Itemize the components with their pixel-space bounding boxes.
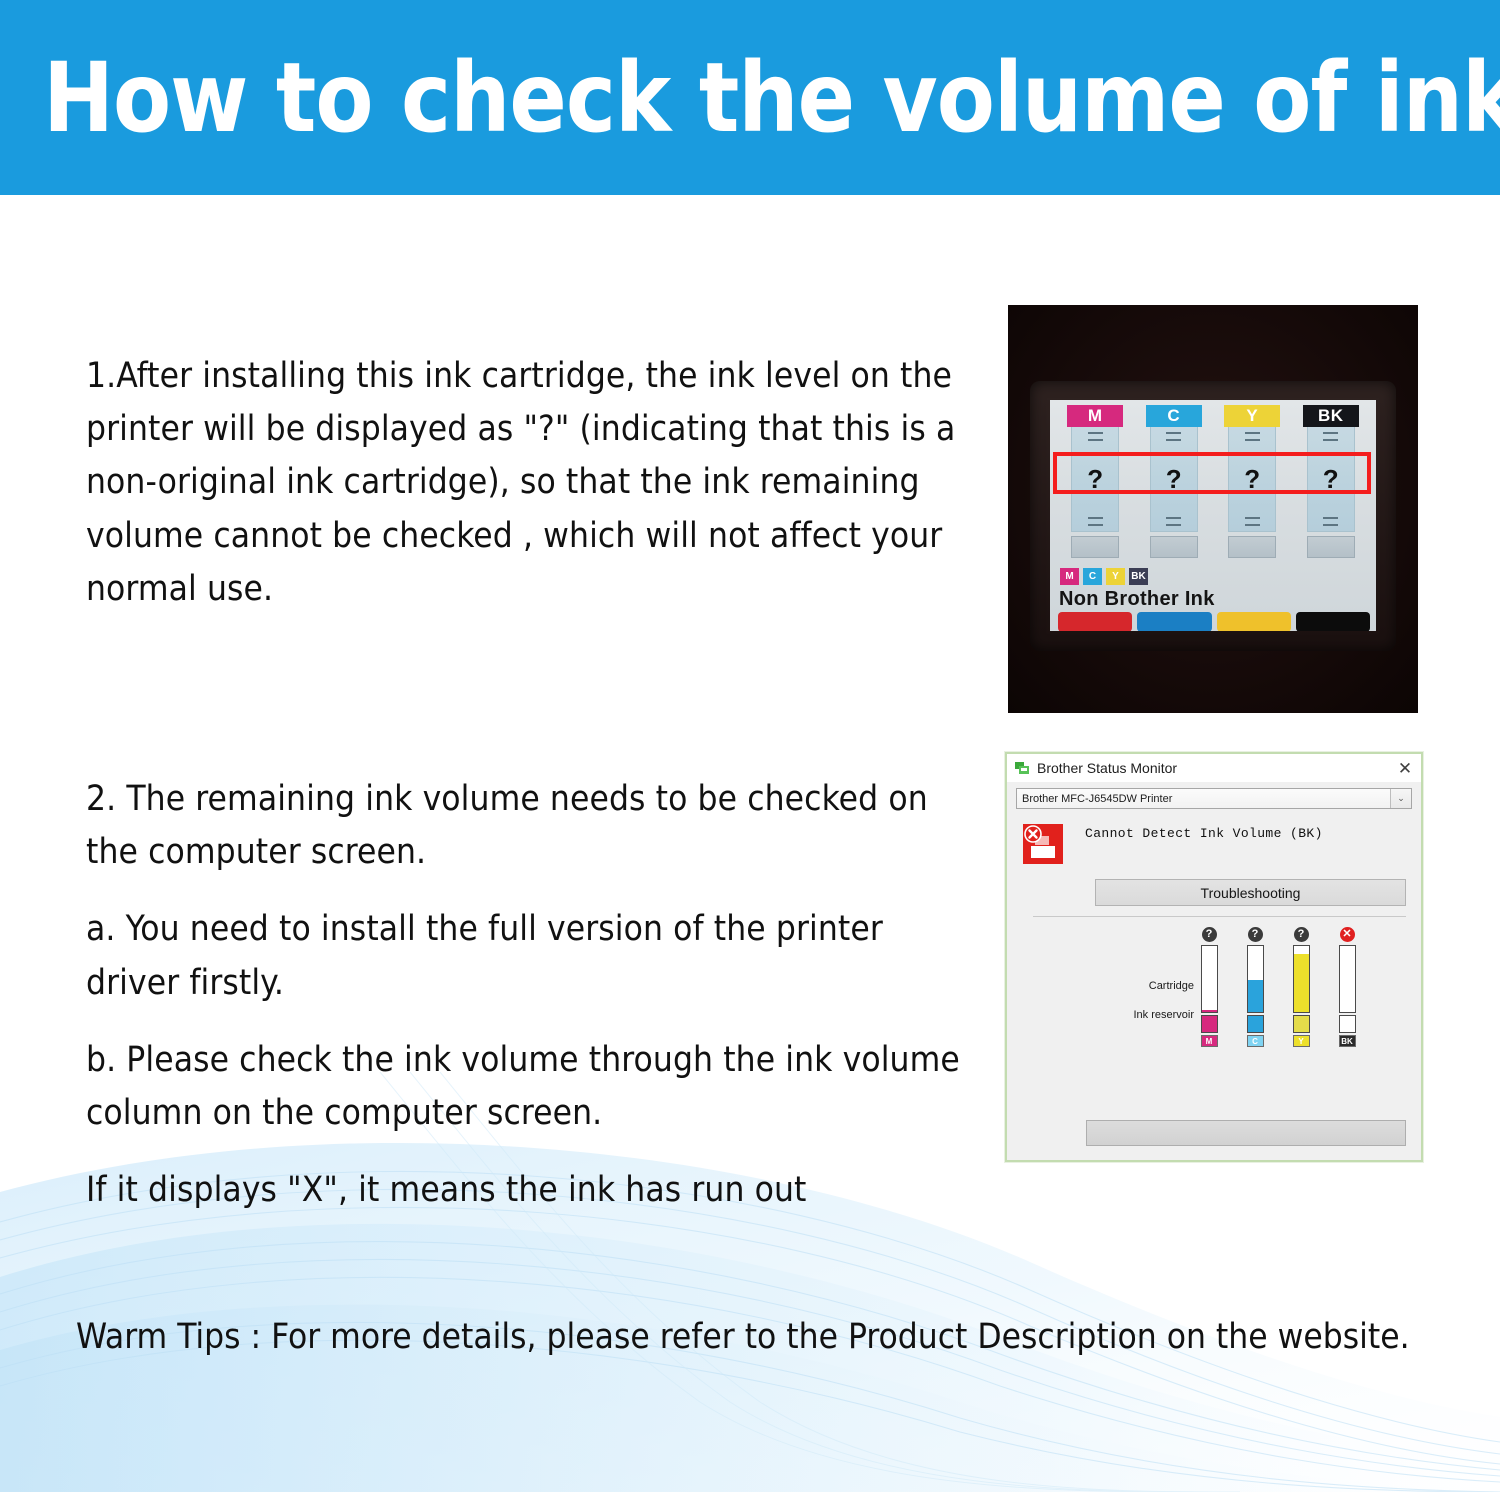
- lcd-dash: [1323, 432, 1338, 434]
- error-message-text: Cannot Detect Ink Volume (BK): [1085, 826, 1323, 841]
- cartridge-level-bk: [1339, 945, 1356, 1013]
- step-2-item-a-text: a. You need to install the full version …: [86, 903, 976, 1009]
- lcd-chip-y: Y: [1106, 568, 1125, 585]
- lcd-non-brother-ink-text: Non Brother Ink: [1059, 588, 1215, 611]
- ink-gauge-m: ? M: [1200, 927, 1218, 1047]
- lcd-ink-foot-c: [1150, 536, 1198, 558]
- cartridge-fill-m: [1202, 1010, 1217, 1012]
- step-2-intro-text: 2. The remaining ink volume needs to be …: [86, 773, 976, 879]
- lcd-button-red[interactable]: [1058, 612, 1132, 631]
- chevron-down-icon: ⌄: [1390, 789, 1411, 808]
- reservoir-level-c: [1247, 1015, 1264, 1033]
- cartridge-level-c: [1247, 945, 1264, 1013]
- cartridge-level-m: [1201, 945, 1218, 1013]
- reservoir-level-y: [1293, 1015, 1310, 1033]
- cartridge-level-y: [1293, 945, 1310, 1013]
- printer-error-icon: [1019, 820, 1067, 868]
- reservoir-level-bk: [1339, 1015, 1356, 1033]
- ink-tag-y: Y: [1293, 1035, 1310, 1047]
- lcd-dash: [1088, 517, 1103, 519]
- lcd-dash: [1166, 524, 1181, 526]
- lcd-dash-group-bottom-m: [1088, 517, 1103, 526]
- window-title: Brother Status Monitor: [1037, 760, 1395, 776]
- ink-tag-bk: BK: [1339, 1035, 1356, 1047]
- lcd-chip-c: C: [1083, 568, 1102, 585]
- status-badge-c: ?: [1248, 927, 1263, 942]
- ink-gauges-section: Cartridge Ink reservoir ? M ?: [1016, 927, 1412, 1047]
- printer-select-dropdown[interactable]: Brother MFC-J6545DW Printer ⌄: [1016, 788, 1412, 809]
- cartridge-fill-c: [1248, 980, 1263, 1012]
- main-content: 1.After installing this ink cartridge, t…: [0, 195, 1500, 1492]
- lcd-bezel: M ? C ?: [1030, 381, 1396, 651]
- lcd-dash-group-top-c: [1166, 432, 1181, 441]
- lcd-dash: [1088, 439, 1103, 441]
- lcd-dash-group-top-y: [1245, 432, 1260, 441]
- lcd-dash: [1166, 439, 1181, 441]
- printer-lcd-photo: M ? C ?: [1008, 305, 1418, 713]
- lcd-dash: [1088, 432, 1103, 434]
- lcd-screen: M ? C ?: [1050, 400, 1376, 631]
- cartridge-label: Cartridge: [1149, 980, 1194, 992]
- lcd-dash: [1088, 524, 1103, 526]
- ink-gauge-row: ? M ? C: [1200, 927, 1356, 1047]
- lcd-dash: [1245, 524, 1260, 526]
- lcd-dash: [1166, 517, 1181, 519]
- window-body: Brother MFC-J6545DW Printer ⌄ Cannot Det…: [1007, 782, 1421, 1160]
- lcd-ink-cap-y: Y: [1224, 405, 1280, 427]
- lcd-ink-foot-y: [1228, 536, 1276, 558]
- lcd-ink-cap-bk: BK: [1303, 405, 1359, 427]
- lcd-dash-group-bottom-bk: [1323, 517, 1338, 526]
- step-2-block: 2. The remaining ink volume needs to be …: [86, 773, 976, 1217]
- lcd-dash-group-bottom-y: [1245, 517, 1260, 526]
- ink-gauge-bk: ✕ BK: [1338, 927, 1356, 1047]
- lcd-button-black[interactable]: [1296, 612, 1370, 631]
- lcd-dash: [1245, 439, 1260, 441]
- error-row: Cannot Detect Ink Volume (BK): [1016, 820, 1412, 868]
- status-badge-m: ?: [1202, 927, 1217, 942]
- step-1-text: 1.After installing this ink cartridge, t…: [86, 350, 956, 616]
- lcd-button-row: [1058, 612, 1370, 631]
- lcd-ink-foot-bk: [1307, 536, 1355, 558]
- ink-tag-c: C: [1247, 1035, 1264, 1047]
- window-titlebar: Brother Status Monitor ✕: [1007, 754, 1421, 782]
- header-banner: How to check the volume of ink: [0, 0, 1500, 195]
- cartridge-fill-y: [1294, 954, 1309, 1012]
- troubleshooting-button[interactable]: Troubleshooting: [1095, 879, 1406, 906]
- lcd-ink-foot-m: [1071, 536, 1119, 558]
- lcd-chip-bk: BK: [1129, 568, 1148, 585]
- lcd-color-chips: M C Y BK: [1060, 568, 1148, 585]
- brother-status-monitor-window: Brother Status Monitor ✕ Brother MFC-J65…: [1005, 752, 1423, 1162]
- close-icon[interactable]: ✕: [1395, 758, 1415, 778]
- lcd-dash: [1323, 524, 1338, 526]
- printer-select-value: Brother MFC-J6545DW Printer: [1017, 793, 1390, 805]
- lcd-dash-group-bottom-c: [1166, 517, 1181, 526]
- lcd-dash: [1245, 432, 1260, 434]
- step-2-item-b-text: b. Please check the ink volume through t…: [86, 1034, 976, 1140]
- lcd-ink-cap-c: C: [1146, 405, 1202, 427]
- printer-app-icon: [1014, 760, 1030, 776]
- lcd-dash: [1323, 517, 1338, 519]
- lcd-ink-cap-m: M: [1067, 405, 1123, 427]
- lcd-dash: [1323, 439, 1338, 441]
- step-1-block: 1.After installing this ink cartridge, t…: [86, 350, 956, 616]
- step-2-note-text: If it displays "X", it means the ink has…: [86, 1164, 976, 1217]
- status-badge-bk: ✕: [1340, 927, 1355, 942]
- ink-reservoir-label: Ink reservoir: [1133, 1009, 1194, 1021]
- red-highlight-box: [1053, 452, 1371, 494]
- lcd-dash-group-top-m: [1088, 432, 1103, 441]
- warm-tips-text: Warm Tips : For more details, please ref…: [76, 1317, 1410, 1357]
- ink-tag-m: M: [1201, 1035, 1218, 1047]
- ink-gauge-y: ? Y: [1292, 927, 1310, 1047]
- reservoir-level-m: [1201, 1015, 1218, 1033]
- status-badge-y: ?: [1294, 927, 1309, 942]
- lcd-button-blue[interactable]: [1137, 612, 1211, 631]
- ink-gauge-c: ? C: [1246, 927, 1264, 1047]
- lcd-dash: [1245, 517, 1260, 519]
- bottom-action-button[interactable]: [1086, 1120, 1406, 1146]
- page-title: How to check the volume of ink: [0, 50, 1500, 146]
- lcd-button-yellow[interactable]: [1217, 612, 1291, 631]
- lcd-dash: [1166, 432, 1181, 434]
- lcd-dash-group-top-bk: [1323, 432, 1338, 441]
- lcd-chip-m: M: [1060, 568, 1079, 585]
- section-divider: [1033, 916, 1406, 917]
